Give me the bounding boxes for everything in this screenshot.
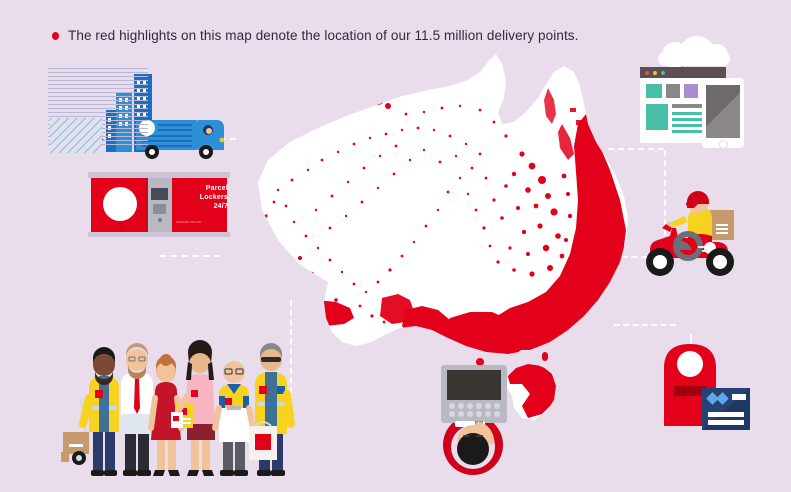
australia-post-logo-icon [677,351,703,377]
person-delivery-officer-2 [249,343,291,476]
kiosk-button [158,218,162,222]
browser-dot-maximize-icon[interactable] [661,71,665,75]
post-box-illustration [660,334,762,436]
bullet-icon [52,32,59,40]
person-delivery-officer-1 [83,347,119,476]
scooter-svg [636,184,746,284]
headline-text: The red highlights on this map denote th… [68,28,579,43]
person-hair [457,433,489,465]
cloud-icon [656,36,732,66]
locker-subheading-text: 24/7 [214,203,228,210]
logo-patch [225,398,232,405]
clipboard [219,408,249,442]
map-island-flinders [542,352,548,361]
content-image-block [646,104,668,130]
headline: The red highlights on this map denote th… [52,28,579,43]
terminal-screen [447,370,501,400]
people-svg [55,332,291,478]
sunglasses-icon [261,357,281,362]
browser-dot-close-icon[interactable] [645,71,649,75]
service-terminal-illustration [435,363,515,473]
content-tile [666,84,680,98]
tablet-home-button[interactable] [719,140,728,149]
truck-headlight-icon [220,138,225,143]
parcel-locker-illustration: Parcel Lockers 24/7 auspost.com.au [88,172,230,238]
locker-base [88,232,230,237]
content-line [672,130,706,133]
tablet-screen [706,85,740,138]
logo-patch [259,386,267,394]
pos-svg [435,363,515,473]
logo-patch [191,390,198,397]
person-business-manager [121,343,153,476]
postbox-svg [660,334,762,436]
legs [93,430,103,472]
shirt-cuff-area [121,414,153,434]
locker-url: auspost.com.au [176,220,228,224]
head [93,354,115,376]
city-truck-illustration [48,62,228,162]
content-tile [684,84,698,98]
kiosk-parcel-slot [153,204,166,214]
tie [134,378,140,414]
australia-post-logo-icon [103,187,137,221]
scooter-courier-illustration [636,184,746,284]
postbox-slot [674,386,706,396]
shoe [153,470,165,476]
locker-heading-text: Parcel Lockers [200,185,228,201]
online-services-illustration [632,36,754,154]
truck-cab [198,120,224,150]
head [223,361,245,383]
person-post-office-staff [215,355,253,476]
logo-patch [95,390,103,398]
warehouse-roof [50,118,102,153]
shoe [91,470,104,476]
parcel-box [63,432,89,454]
browser-dot-minimize-icon[interactable] [653,71,657,75]
infographic-canvas: The red highlights on this map denote th… [0,0,791,492]
person-retail-officer-pink [171,340,215,476]
content-tile [646,84,662,98]
team-illustration [55,332,291,478]
locker-heading: Parcel Lockers 24/7 [176,184,228,211]
